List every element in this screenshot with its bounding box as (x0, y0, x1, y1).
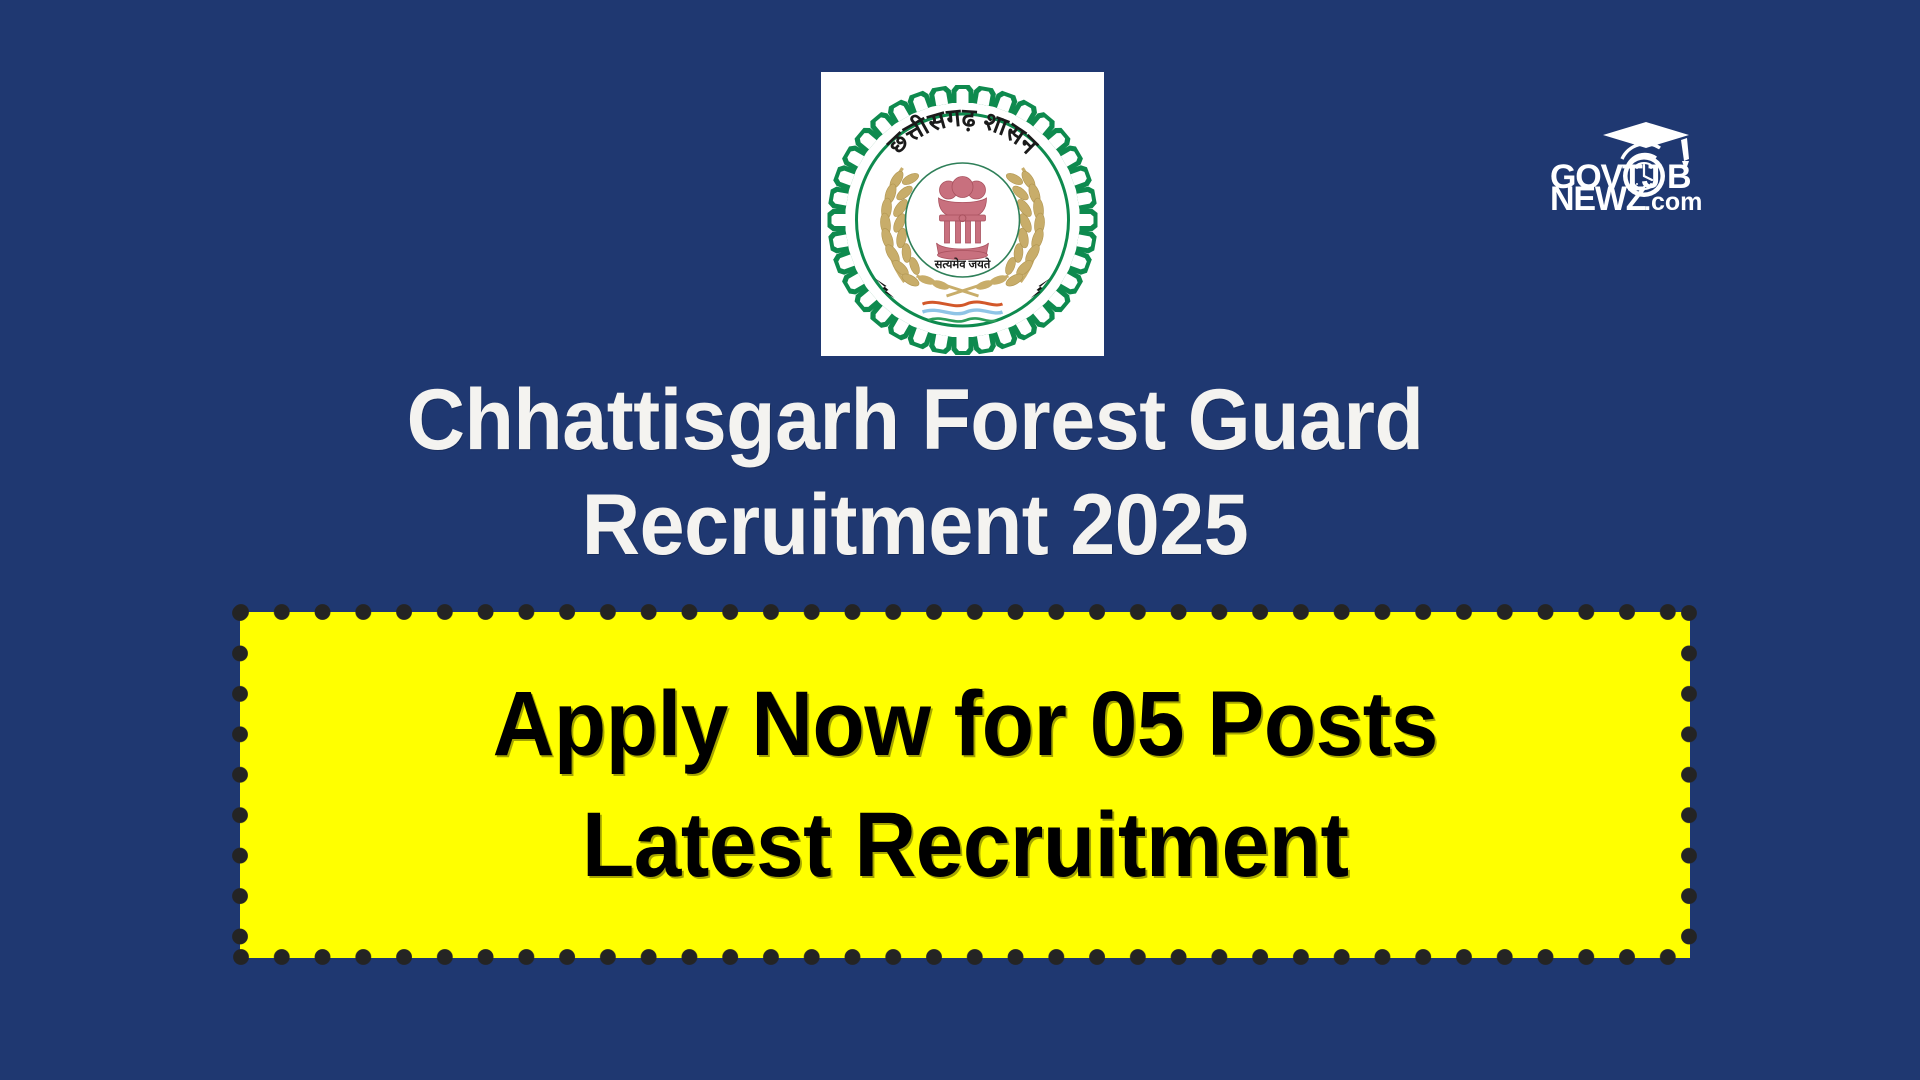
poster-canvas: छत्तीसगढ़ शासन (0, 0, 1920, 1080)
page-title-line-2: Recruitment 2025 (55, 473, 1775, 578)
highlight-banner: Apply Now for 05 Posts Latest Recruitmen… (240, 612, 1690, 958)
chhattisgarh-government-emblem-icon: छत्तीसगढ़ शासन (821, 72, 1104, 356)
govtjobnewz-logo-icon: GOVTJ B NEWZ .com (1548, 118, 1748, 210)
dotted-border-right (1680, 603, 1699, 967)
govtjobnewz-watermark[interactable]: GOVTJ B NEWZ .com (1548, 118, 1748, 210)
highlight-line-2: Latest Recruitment (492, 785, 1437, 906)
emblem-card: छत्तीसगढ़ शासन (821, 72, 1104, 356)
svg-text:सत्यमेव जयते: सत्यमेव जयते (934, 257, 991, 271)
page-title: Chhattisgarh Forest Guard Recruitment 20… (55, 368, 1775, 578)
highlight-line-1: Apply Now for 05 Posts (492, 664, 1437, 785)
dotted-border-bottom (231, 948, 1699, 967)
dotted-border-left (231, 603, 250, 967)
highlight-text: Apply Now for 05 Posts Latest Recruitmen… (492, 664, 1437, 907)
dotted-border-top (231, 603, 1699, 622)
brand-line-2-suffix: .com (1644, 188, 1702, 210)
page-title-line-1: Chhattisgarh Forest Guard (55, 368, 1775, 473)
brand-line-2: NEWZ (1550, 180, 1646, 210)
